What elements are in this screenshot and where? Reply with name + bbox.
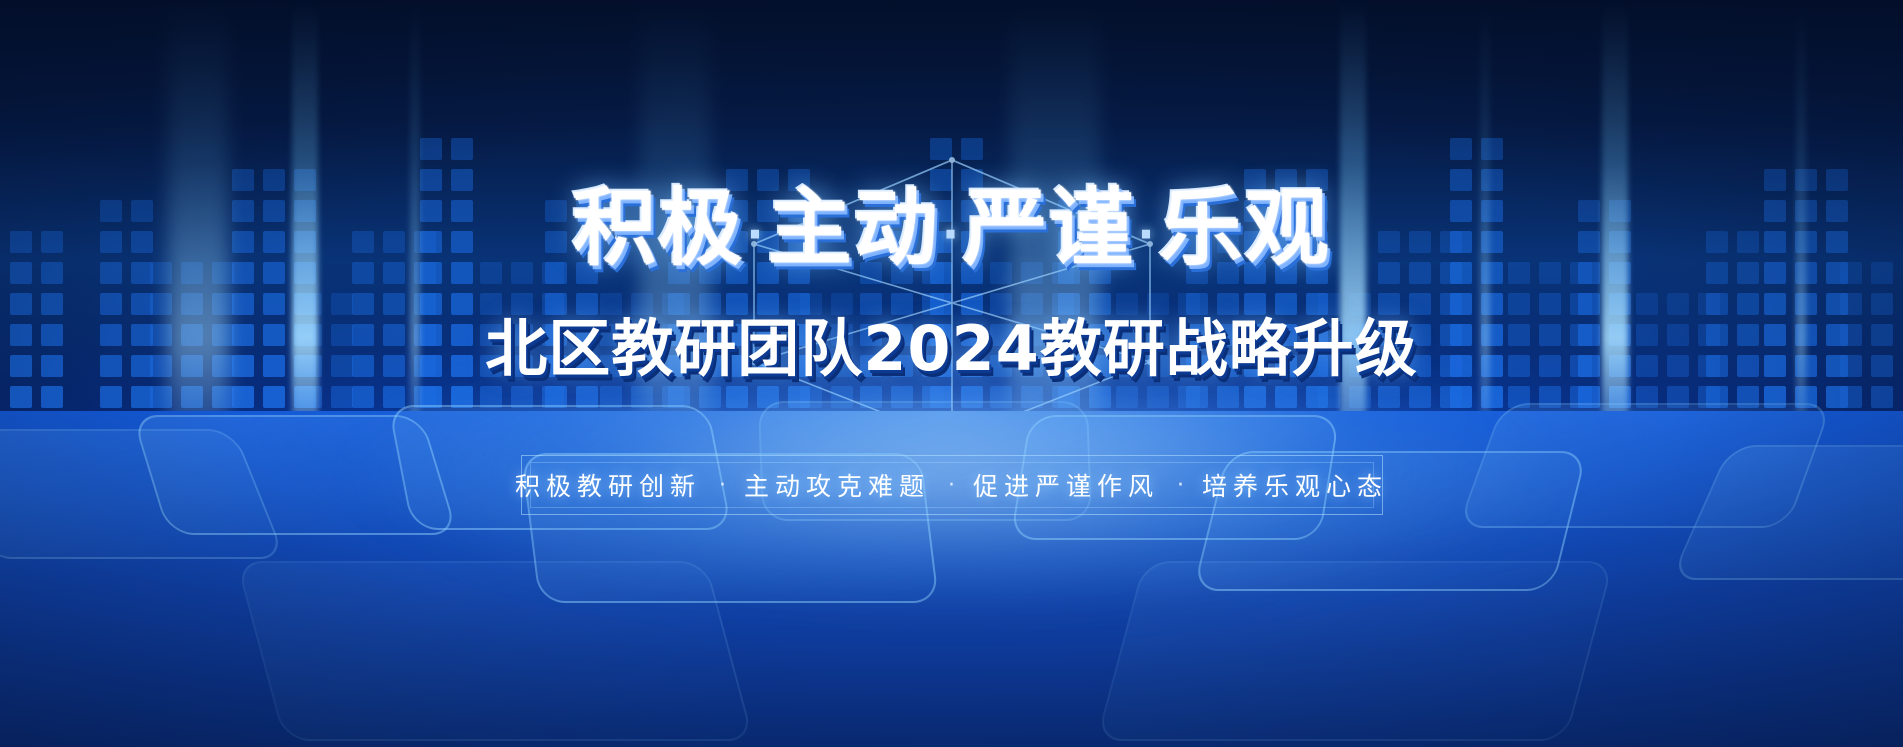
- headline-word: 严谨: [963, 179, 1135, 277]
- headline-word: 主动: [768, 179, 940, 277]
- banner-stage: 积极·主动·严谨·乐观 北区教研团队2024教研战略升级 积极教研创新·主动攻克…: [0, 0, 1903, 747]
- tagline-item: 促进严谨作风: [973, 467, 1159, 503]
- headline-separator: ·: [744, 207, 767, 261]
- tagline-item: 积极教研创新: [515, 467, 701, 503]
- tagline-item: 培养乐观心态: [1202, 467, 1388, 503]
- headline-word: 乐观: [1159, 179, 1331, 277]
- tagline-panel: 积极教研创新·主动攻克难题·促进严谨作风·培养乐观心态: [521, 455, 1383, 515]
- banner-content: 积极·主动·严谨·乐观 北区教研团队2024教研战略升级 积极教研创新·主动攻克…: [0, 0, 1903, 747]
- tagline-separator: ·: [719, 473, 726, 498]
- headline-separator: ·: [1135, 207, 1158, 261]
- page-subtitle: 北区教研团队2024教研战略升级: [0, 318, 1903, 380]
- headline-word: 积极: [572, 179, 744, 277]
- page-title: 积极·主动·严谨·乐观: [0, 186, 1903, 270]
- tagline-item: 主动攻克难题: [744, 467, 930, 503]
- headline-separator: ·: [940, 207, 963, 261]
- tagline-separator: ·: [1177, 473, 1184, 498]
- tagline-separator: ·: [948, 473, 955, 498]
- tagline-list: 积极教研创新·主动攻克难题·促进严谨作风·培养乐观心态: [521, 455, 1383, 515]
